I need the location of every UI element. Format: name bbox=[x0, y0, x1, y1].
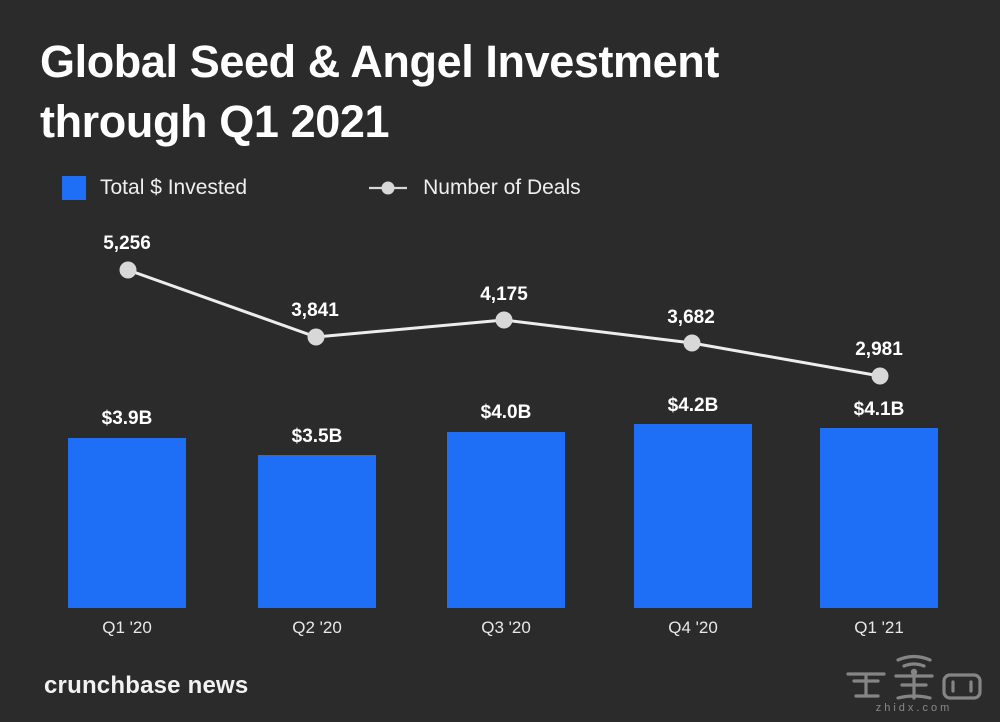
deals-point-marker-2 bbox=[496, 312, 513, 329]
title-block: Global Seed & Angel Investment through Q… bbox=[40, 32, 860, 152]
x-axis-label-3: Q4 '20 bbox=[623, 618, 763, 638]
chart-legend: Total $ Invested Number of Deals bbox=[62, 176, 581, 200]
deals-value-label-4: 2,981 bbox=[809, 339, 949, 361]
bar-3 bbox=[634, 424, 752, 608]
deals-point-marker-4 bbox=[872, 368, 889, 385]
legend-item-number-of-deals[interactable]: Number of Deals bbox=[367, 176, 581, 200]
bar-2 bbox=[447, 432, 565, 608]
deals-value-label-3: 3,682 bbox=[621, 307, 761, 329]
zhidx-watermark: zhidx.com bbox=[840, 654, 988, 716]
bar-swatch-icon bbox=[62, 176, 86, 200]
bar-0 bbox=[68, 438, 186, 608]
deals-line-path bbox=[128, 270, 880, 376]
legend-label-total-invested: Total $ Invested bbox=[100, 176, 247, 200]
brand-crunchbase-news: crunchbase news bbox=[44, 672, 248, 700]
bar-value-label-0: $3.9B bbox=[57, 408, 197, 430]
page-title: Global Seed & Angel Investment through Q… bbox=[40, 32, 860, 152]
deals-value-label-2: 4,175 bbox=[434, 284, 574, 306]
deals-point-marker-3 bbox=[684, 335, 701, 352]
deals-value-label-0: 5,256 bbox=[57, 233, 197, 255]
bar-4 bbox=[820, 428, 938, 608]
x-axis-label-0: Q1 '20 bbox=[57, 618, 197, 638]
chart-container: Global Seed & Angel Investment through Q… bbox=[0, 0, 1000, 722]
bar-1 bbox=[258, 455, 376, 608]
line-dot-icon bbox=[367, 177, 409, 199]
bar-value-label-4: $4.1B bbox=[809, 399, 949, 421]
deals-point-marker-0 bbox=[120, 262, 137, 279]
x-axis-label-1: Q2 '20 bbox=[247, 618, 387, 638]
watermark-label: zhidx.com bbox=[840, 702, 988, 714]
bar-value-label-3: $4.2B bbox=[623, 395, 763, 417]
bar-value-label-1: $3.5B bbox=[247, 426, 387, 448]
deals-value-label-1: 3,841 bbox=[245, 300, 385, 322]
x-axis-label-2: Q3 '20 bbox=[436, 618, 576, 638]
legend-item-total-invested[interactable]: Total $ Invested bbox=[62, 176, 247, 200]
bar-value-label-2: $4.0B bbox=[436, 402, 576, 424]
deals-point-marker-1 bbox=[308, 329, 325, 346]
x-axis-label-4: Q1 '21 bbox=[809, 618, 949, 638]
legend-label-number-of-deals: Number of Deals bbox=[423, 176, 581, 200]
